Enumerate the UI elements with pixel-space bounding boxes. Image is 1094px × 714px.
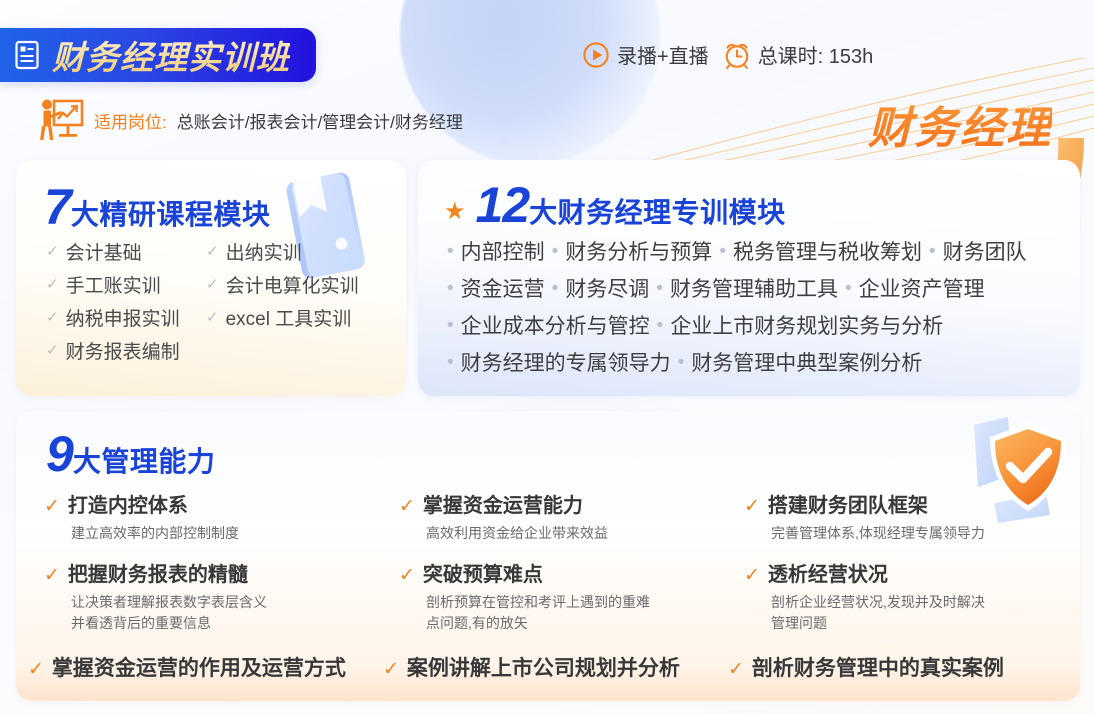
ability-footer-title: 案例讲解上市公司规划并分析 [407, 652, 680, 682]
check-icon: ✓ [28, 660, 44, 679]
check-icon: ✓ [728, 660, 744, 679]
meta-item-duration: 总课时: 153h [723, 40, 874, 69]
check-icon: ✓ [399, 497, 415, 516]
check-icon: ✓ [399, 566, 415, 585]
meta-format-text: 录播+直播 [617, 40, 709, 69]
card-course-modules: 7 大精研课程模块 [16, 160, 406, 396]
check-icon: ✓ [44, 566, 60, 585]
course-module-item: ✓ 财务报表编制 [46, 337, 206, 364]
specialist-modules-row: • 内部控制 • 财务分析与预算 • 税务管理与税收筹划 • 财务团队 [440, 236, 1070, 266]
card-specialist-modules: ★ 12 大财务经理专训模块 • 内部控制 • 财务分析与预算 • 税务管理与税… [418, 160, 1080, 396]
check-icon: ✓ [744, 566, 760, 585]
bullet-dot-icon: • [447, 242, 454, 261]
ability-description: 剖析企业经营状况,发现并及时解决管理问题 [771, 592, 1040, 634]
ability-footer-item: ✓ 剖析财务管理中的真实案例 [728, 652, 1038, 682]
course-modules-heading-text: 大精研课程模块 [71, 193, 271, 233]
ability-item: ✓ 掌握资金运营能力 [399, 489, 730, 518]
abilities-column: ✓ 打造内控体系 建立高效率的内部控制制度 ✓ 把握财务报表的精髓 让决策者理解… [44, 489, 399, 648]
check-icon: ✓ [206, 244, 219, 259]
applicable-positions-row: 适用岗位: 总账会计/报表会计/管理会计/财务经理 [38, 98, 463, 142]
specialist-modules-number: 12 [476, 180, 530, 230]
course-module-item: ✓ 出纳实训 [206, 238, 386, 265]
specialist-module-label: 财务团队 [943, 236, 1027, 266]
course-module-label: 会计电算化实训 [226, 271, 359, 298]
ability-description: 剖析预算在管控和考评上遇到的重难点问题,有的放矢 [426, 592, 730, 634]
ability-title: 掌握资金运营能力 [423, 489, 583, 518]
ability-item: ✓ 把握财务报表的精髓 [44, 558, 385, 587]
specialist-modules-row: • 财务经理的专属领导力 • 财务管理中典型案例分析 [440, 347, 1070, 377]
ability-title: 透析经营状况 [768, 558, 888, 587]
bullet-dot-icon: • [447, 353, 454, 372]
header-kicker: 财务经理 [868, 92, 1052, 156]
bullet-dot-icon: • [657, 316, 664, 335]
course-module-label: excel 工具实训 [226, 304, 352, 331]
course-module-item: ✓ 会计基础 [46, 238, 206, 265]
abilities-heading-text: 大管理能力 [73, 440, 216, 480]
ability-description: 高效利用资金给企业带来效益 [426, 523, 730, 544]
ability-footer-title: 掌握资金运营的作用及运营方式 [52, 652, 346, 682]
specialist-module-label: 内部控制 [461, 236, 545, 266]
specialist-modules-row: • 资金运营 • 财务尽调 • 财务管理辅助工具 • 企业资产管理 [440, 273, 1070, 303]
course-poster: 财务经理实训班 适用岗位: 总账会计/报表会计/管理会计/财务经理 [0, 0, 1094, 714]
specialist-module-label: 资金运营 [461, 273, 545, 303]
course-module-label: 出纳实训 [226, 238, 302, 265]
specialist-modules-heading-text: 大财务经理专训模块 [529, 191, 786, 231]
bullet-dot-icon: • [845, 279, 852, 298]
specialist-module-label: 财务管理辅助工具 [670, 273, 838, 303]
check-icon: ✓ [744, 497, 760, 516]
abilities-heading: 9 大管理能力 [46, 429, 215, 480]
specialist-modules-heading: ★ 12 大财务经理专训模块 [444, 180, 786, 231]
specialist-module-label: 税务管理与税收筹划 [733, 236, 922, 266]
meta-duration-text: 总课时: 153h [758, 40, 874, 69]
bullet-dot-icon: • [929, 242, 936, 261]
course-title-badge: 财务经理实训班 [0, 28, 316, 82]
specialist-modules-list: • 内部控制 • 财务分析与预算 • 税务管理与税收筹划 • 财务团队 • 资金… [440, 236, 1070, 384]
ability-footer-title: 剖析财务管理中的真实案例 [752, 652, 1004, 682]
specialist-module-label: 财务管理中典型案例分析 [691, 347, 922, 377]
check-icon: ✓ [44, 497, 60, 516]
presenter-chart-icon [38, 98, 84, 142]
course-module-item: ✓ 会计电算化实训 [206, 271, 386, 298]
specialist-module-label: 企业资产管理 [859, 273, 985, 303]
ability-footer-item: ✓ 案例讲解上市公司规划并分析 [383, 652, 728, 682]
check-icon: ✓ [46, 343, 59, 358]
ability-item: ✓ 突破预算难点 [399, 558, 730, 587]
specialist-module-label: 企业上市财务规划实务与分析 [670, 310, 943, 340]
check-icon: ✓ [46, 244, 59, 259]
specialist-module-label: 财务尽调 [565, 273, 649, 303]
ability-item: ✓ 打造内控体系 [44, 489, 385, 518]
course-meta-row: 录播+直播 总课时: 153h [582, 40, 873, 69]
abilities-columns: ✓ 打造内控体系 建立高效率的内部控制制度 ✓ 把握财务报表的精髓 让决策者理解… [44, 489, 1054, 648]
ability-title: 突破预算难点 [423, 558, 543, 587]
document-icon [14, 40, 40, 70]
bullet-dot-icon: • [656, 279, 663, 298]
course-module-item: ✓ 纳税申报实训 [46, 304, 206, 331]
check-icon: ✓ [46, 277, 59, 292]
course-modules-heading: 7 大精研课程模块 [44, 182, 270, 233]
course-module-item: ✓ 手工账实训 [46, 271, 206, 298]
abilities-column: ✓ 掌握资金运营能力 高效利用资金给企业带来效益 ✓ 突破预算难点 剖析预算在管… [399, 489, 744, 648]
bullet-dot-icon: • [552, 242, 559, 261]
ability-title: 搭建财务团队框架 [768, 489, 928, 518]
course-modules-number: 7 [44, 182, 71, 232]
course-module-label: 纳税申报实训 [66, 304, 180, 331]
ability-description: 建立高效率的内部控制制度 [71, 523, 385, 544]
course-module-label: 会计基础 [66, 238, 142, 265]
abilities-number: 9 [46, 429, 73, 479]
bullet-dot-icon: • [678, 353, 685, 372]
specialist-modules-row: • 企业成本分析与管控 • 企业上市财务规划实务与分析 [440, 310, 1070, 340]
bullet-dot-icon: • [552, 279, 559, 298]
bullet-dot-icon: • [719, 242, 726, 261]
star-icon: ★ [444, 200, 466, 224]
course-module-label: 财务报表编制 [66, 337, 180, 364]
check-icon: ✓ [206, 277, 219, 292]
bullet-dot-icon: • [447, 316, 454, 335]
ability-description: 让决策者理解报表数字表层含义并看透背后的重要信息 [71, 592, 385, 634]
abilities-footer-row: ✓ 掌握资金运营的作用及运营方式 ✓ 案例讲解上市公司规划并分析 ✓ 剖析财务管… [28, 652, 1068, 682]
ability-footer-item: ✓ 掌握资金运营的作用及运营方式 [28, 652, 383, 682]
specialist-module-label: 财务分析与预算 [565, 236, 712, 266]
ability-title: 打造内控体系 [68, 489, 188, 518]
applicable-positions-label: 适用岗位: [94, 108, 167, 133]
specialist-module-label: 企业成本分析与管控 [461, 310, 650, 340]
ability-title: 把握财务报表的精髓 [68, 558, 248, 587]
ability-item: ✓ 透析经营状况 [744, 558, 1040, 587]
shield-check-icon [968, 411, 1080, 529]
course-modules-list: ✓ 会计基础 ✓ 出纳实训 ✓ 手工账实训 ✓ 会计电算化实训 ✓ 纳税申报实训… [46, 238, 386, 364]
check-icon: ✓ [383, 660, 399, 679]
alarm-clock-icon [723, 41, 751, 69]
specialist-module-label: 财务经理的专属领导力 [461, 347, 671, 377]
play-circle-icon [582, 41, 610, 69]
meta-item-format: 录播+直播 [582, 40, 709, 69]
course-module-item: ✓ excel 工具实训 [206, 304, 386, 331]
check-icon: ✓ [206, 310, 219, 325]
course-module-label: 手工账实训 [66, 271, 161, 298]
bullet-dot-icon: • [447, 279, 454, 298]
course-title: 财务经理实训班 [52, 31, 290, 79]
applicable-positions-value: 总账会计/报表会计/管理会计/财务经理 [177, 108, 463, 133]
check-icon: ✓ [46, 310, 59, 325]
